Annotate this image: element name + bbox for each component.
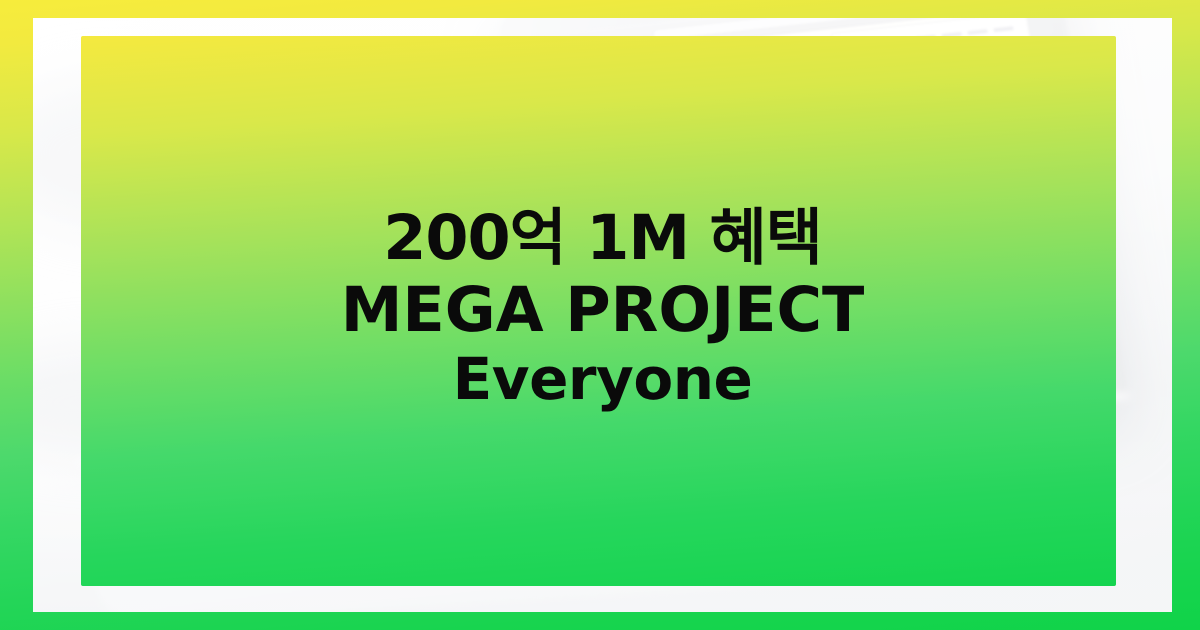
- headline-line-2: MEGA PROJECT: [33, 274, 1172, 346]
- cohort-cell: [920, 98, 947, 116]
- cohort-cell: [946, 93, 973, 111]
- cohort-value-label: [892, 50, 909, 56]
- cohort-row-label: [848, 88, 890, 96]
- cohort-cell: [893, 81, 920, 99]
- cohort-row-label: [854, 127, 898, 136]
- panel-stat-row: [568, 107, 638, 119]
- cohort-value-label: [918, 47, 933, 52]
- dashboard-panel-summary: [713, 46, 842, 176]
- panel-sparkline: [574, 136, 711, 184]
- panel-title-bar: [562, 74, 625, 86]
- cohort-value-label: [943, 44, 956, 49]
- cohort-cell: [917, 58, 944, 76]
- cohort-col-header: [941, 32, 962, 38]
- promo-banner: ☆: [0, 0, 1200, 630]
- panel-stat-row: [736, 137, 767, 144]
- panel-stat-row: [727, 82, 779, 92]
- cohort-cell: [943, 55, 970, 73]
- cohort-cell: [894, 101, 921, 119]
- cohort-cell: [945, 75, 972, 93]
- dashboard-panel-metrics: [552, 59, 721, 194]
- cohort-col-header: [967, 29, 988, 35]
- cohort-col-header: [916, 35, 937, 41]
- banner-card: ☆: [33, 18, 1172, 612]
- cohort-cell: [921, 116, 948, 134]
- panel-stat-row: [565, 96, 609, 105]
- cohort-row-label: [851, 108, 891, 116]
- cohort-cell: [892, 61, 919, 79]
- cohort-row-label: [844, 68, 883, 76]
- panel-stat-row: [570, 125, 607, 133]
- cohort-cell: [995, 45, 1024, 64]
- cohort-value-label: [995, 38, 1012, 44]
- headline-block: 200억 1M 혜택 MEGA PROJECT Everyone: [33, 202, 1172, 413]
- cohort-cell: [919, 78, 946, 96]
- panel-stat-row: [730, 101, 769, 109]
- headline-line-3: Everyone: [33, 346, 1172, 413]
- headline-line-1: 200억 1M 혜택: [33, 202, 1172, 274]
- panel-title-bar: [723, 58, 772, 68]
- cohort-col-header: [993, 26, 1014, 32]
- cohort-col-header: [890, 37, 911, 43]
- cohort-value-label: [969, 41, 986, 47]
- dashboard-panel-cohort: [831, 18, 1053, 191]
- panel-stat-row: [733, 116, 793, 126]
- cohort-cell: [897, 141, 924, 159]
- cohort-cell: [896, 121, 923, 139]
